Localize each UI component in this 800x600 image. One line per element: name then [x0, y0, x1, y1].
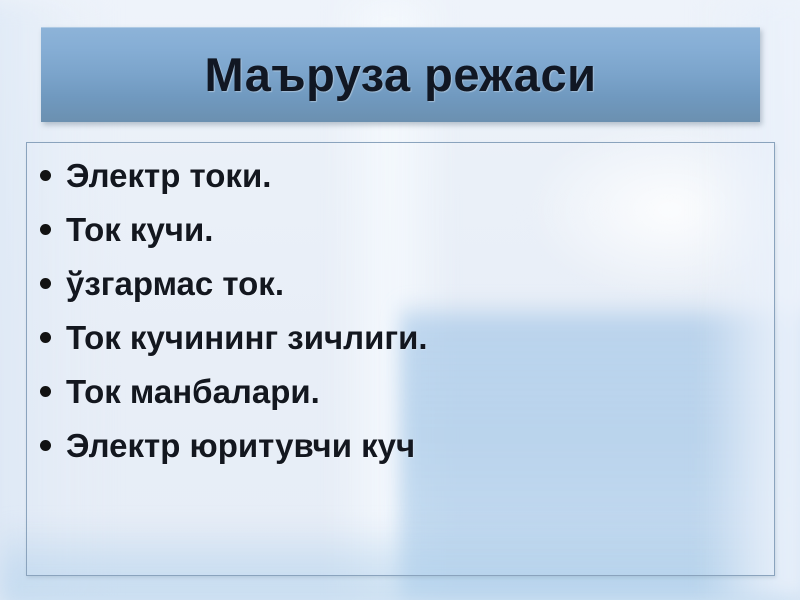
bullet-text: Ток кучи.	[66, 213, 213, 248]
list-item: Ток манбалари.	[27, 375, 774, 429]
bullet-dot-icon	[40, 170, 51, 181]
slide-title: Маъруза режаси	[205, 51, 597, 98]
bullet-text: Электр юритувчи куч	[66, 429, 415, 464]
bullet-dot-icon	[40, 278, 51, 289]
bullet-dot-icon	[40, 440, 51, 451]
list-item: Ток кучининг зичлиги.	[27, 321, 774, 375]
bullet-text: Ток кучининг зичлиги.	[66, 321, 428, 356]
bullet-text: Ток манбалари.	[66, 375, 320, 410]
bullet-text: ўзгармас ток.	[66, 267, 284, 302]
list-item: Электр юритувчи куч	[27, 429, 774, 483]
bullet-dot-icon	[40, 224, 51, 235]
bullet-dot-icon	[40, 332, 51, 343]
bullet-list: Электр токи. Ток кучи. ўзгармас ток. Ток…	[27, 143, 774, 483]
list-item: ўзгармас ток.	[27, 267, 774, 321]
slide-title-plate: Маъруза режаси	[41, 27, 760, 122]
slide-canvas: Маъруза режаси Электр токи. Ток кучи. ўз…	[0, 0, 800, 600]
bullet-text: Электр токи.	[66, 159, 271, 194]
list-item: Электр токи.	[27, 159, 774, 213]
content-placeholder-box: Электр токи. Ток кучи. ўзгармас ток. Ток…	[26, 142, 775, 576]
list-item: Ток кучи.	[27, 213, 774, 267]
bullet-dot-icon	[40, 386, 51, 397]
